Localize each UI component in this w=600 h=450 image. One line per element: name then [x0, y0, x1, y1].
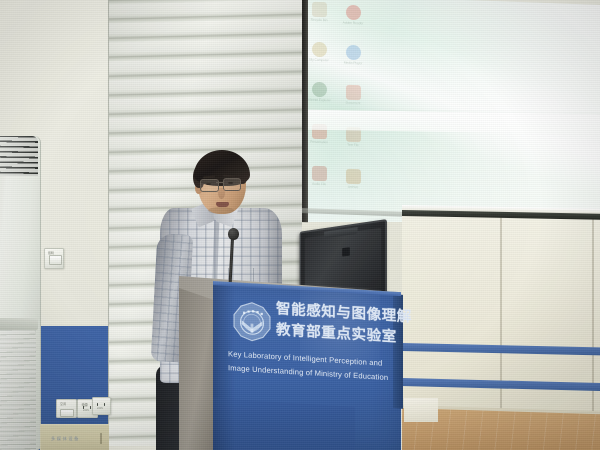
- desktop-icon[interactable]: Document: [340, 85, 366, 106]
- monitor-back-panel: [305, 228, 381, 292]
- university-emblem: [232, 300, 272, 342]
- my-computer-icon: [312, 42, 327, 58]
- presentation-photo: Recycle Bin My Computer Internet Explore…: [0, 0, 600, 450]
- recycle-bin-icon: [312, 2, 327, 18]
- switch-rocker[interactable]: [60, 409, 74, 417]
- archive-file-icon: [346, 169, 361, 185]
- podium-banner: 智能感知与图像理解 教育部重点实验室 Key Laboratory of Int…: [224, 291, 400, 402]
- banner-english-text: Key Laboratory of Intelligent Perception…: [228, 347, 404, 385]
- sign-edge-bar: [100, 433, 102, 444]
- socket-hole: [97, 403, 98, 406]
- desktop-icon[interactable]: Media Player: [340, 45, 366, 66]
- gooseneck-microphone[interactable]: [228, 228, 239, 240]
- socket-hole: [104, 403, 105, 406]
- desktop-icon[interactable]: Adobe Reader: [340, 5, 366, 26]
- media-player-icon: [346, 45, 361, 61]
- projection-screen[interactable]: Recycle Bin My Computer Internet Explore…: [300, 0, 600, 222]
- side-cabinet-panel: [404, 398, 438, 422]
- document-file-icon: [346, 85, 361, 101]
- desktop-icon[interactable]: Archive: [340, 169, 366, 190]
- banner-chinese-text: 智能感知与图像理解 教育部重点实验室: [276, 299, 398, 348]
- presenter-nose: [218, 188, 225, 199]
- podium-left-side: [179, 288, 215, 450]
- wall-information-sign: 多媒体设备: [40, 424, 109, 450]
- audio-file-icon: [312, 166, 327, 182]
- adobe-reader-icon: [346, 5, 361, 21]
- desktop-icon[interactable]: Internet Explorer: [306, 82, 332, 103]
- presenter-chin-shadow: [208, 207, 234, 214]
- internet-explorer-icon: [312, 82, 327, 98]
- monitor-vesa-plate: [342, 247, 350, 256]
- desktop-icon[interactable]: My Computer: [306, 42, 332, 63]
- eyeglasses-lens-left: [200, 179, 219, 192]
- ac-body-seam: [0, 318, 38, 330]
- eyeglasses-bridge: [216, 182, 224, 183]
- presenter-mouth: [216, 202, 229, 207]
- ac-upper-vent: [0, 136, 38, 176]
- switch-rocker[interactable]: [49, 255, 62, 265]
- wall-light-switch[interactable]: 照明: [44, 248, 64, 269]
- wall-switch-ac[interactable]: 空调: [56, 399, 77, 418]
- eyeglasses-lens-right: [223, 178, 241, 191]
- ac-lower-vent: [0, 330, 36, 450]
- desktop-icon[interactable]: Recycle Bin: [306, 2, 332, 23]
- wall-power-outlet-2[interactable]: 220V: [92, 397, 111, 415]
